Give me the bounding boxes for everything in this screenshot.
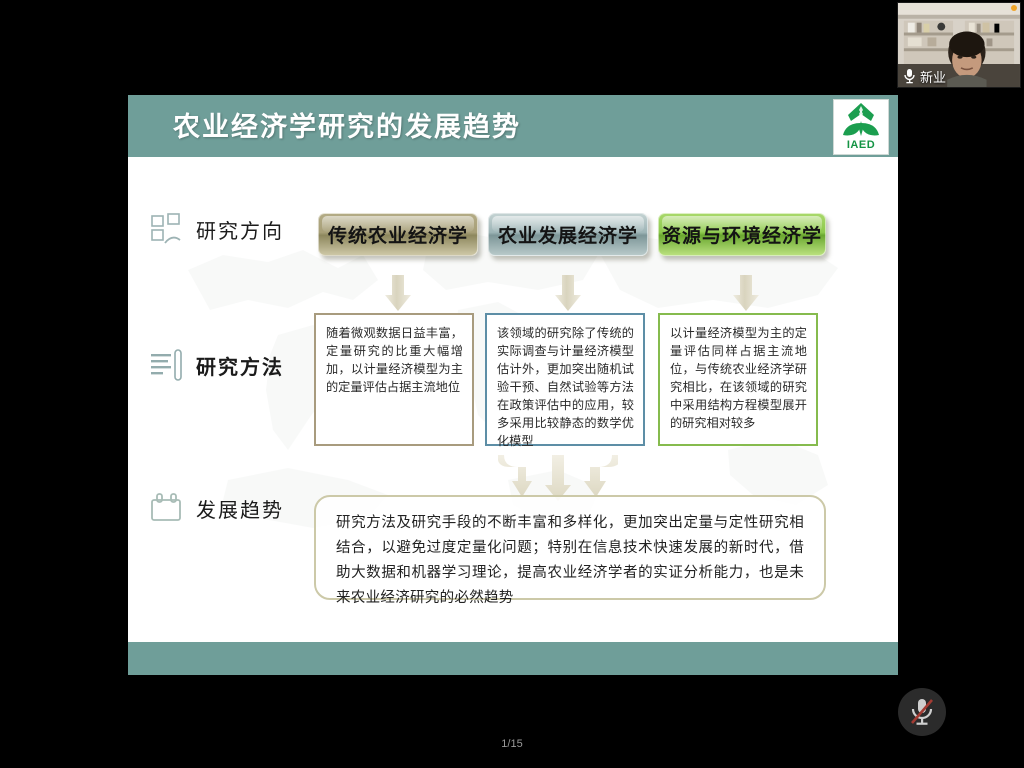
direction-pill-development[interactable]: 农业发展经济学 xyxy=(488,213,648,256)
calendar-icon xyxy=(150,492,184,524)
direction-pill-resource-environment-label: 资源与环境经济学 xyxy=(662,221,822,248)
participant-video-thumbnail[interactable]: 新业 xyxy=(897,2,1021,88)
slide-canvas[interactable]: 农业经济学研究的发展趋势 IAED 研究方向 xyxy=(128,95,898,675)
document-lines-icon xyxy=(150,348,184,382)
method-box-resource-environment: 以计量经济模型为主的定量评估同样占据主流地位，与传统农业经济学研究相比，在该领域… xyxy=(658,313,818,446)
direction-pill-traditional[interactable]: 传统农业经济学 xyxy=(318,213,478,256)
logo-text: IAED xyxy=(847,139,875,151)
direction-pill-development-label: 农业发展经济学 xyxy=(498,221,638,248)
microphone-icon xyxy=(903,68,916,84)
row-label-trend: 发展趋势 xyxy=(150,492,284,524)
trend-summary-box: 研究方法及研究手段的不断丰富和多样化，更加突出定量与定性研究相结合，以避免过度定… xyxy=(314,495,826,600)
participant-name-bar: 新业 xyxy=(898,65,1020,87)
microphone-muted-icon xyxy=(909,697,935,727)
slide-footer xyxy=(128,642,898,675)
iaed-logo: IAED xyxy=(833,99,889,155)
arrow-down-icon-2 xyxy=(551,275,585,313)
slide-title: 农业经济学研究的发展趋势 xyxy=(173,105,521,144)
arrow-down-icon-1 xyxy=(381,275,415,313)
blocks-diagram-icon xyxy=(150,213,184,245)
recording-indicator-dot xyxy=(1011,5,1017,11)
row-label-direction-text: 研究方向 xyxy=(196,215,284,244)
direction-pill-traditional-label: 传统农业经济学 xyxy=(328,221,468,248)
direction-pill-resource-environment[interactable]: 资源与环境经济学 xyxy=(658,213,826,256)
mute-toggle-button[interactable] xyxy=(898,688,946,736)
wheat-leaf-icon xyxy=(841,101,881,139)
participant-name-label: 新业 xyxy=(920,67,946,86)
row-label-trend-text: 发展趋势 xyxy=(196,494,284,523)
arrow-down-icon-3 xyxy=(729,275,763,313)
row-label-method: 研究方法 xyxy=(150,348,284,382)
row-label-direction: 研究方向 xyxy=(150,213,284,245)
row-label-method-text: 研究方法 xyxy=(196,351,284,380)
page-indicator: 1/15 xyxy=(0,738,1024,750)
presentation-stage: 农业经济学研究的发展趋势 IAED 研究方向 xyxy=(0,0,1024,768)
method-box-traditional: 随着微观数据日益丰富，定量研究的比重大幅增加，以计量经济模型为主的定量评估占据主… xyxy=(314,313,474,446)
method-box-development: 该领域的研究除了传统的实际调查与计量经济模型估计外，更加突出随机试验干预、自然试… xyxy=(485,313,645,446)
